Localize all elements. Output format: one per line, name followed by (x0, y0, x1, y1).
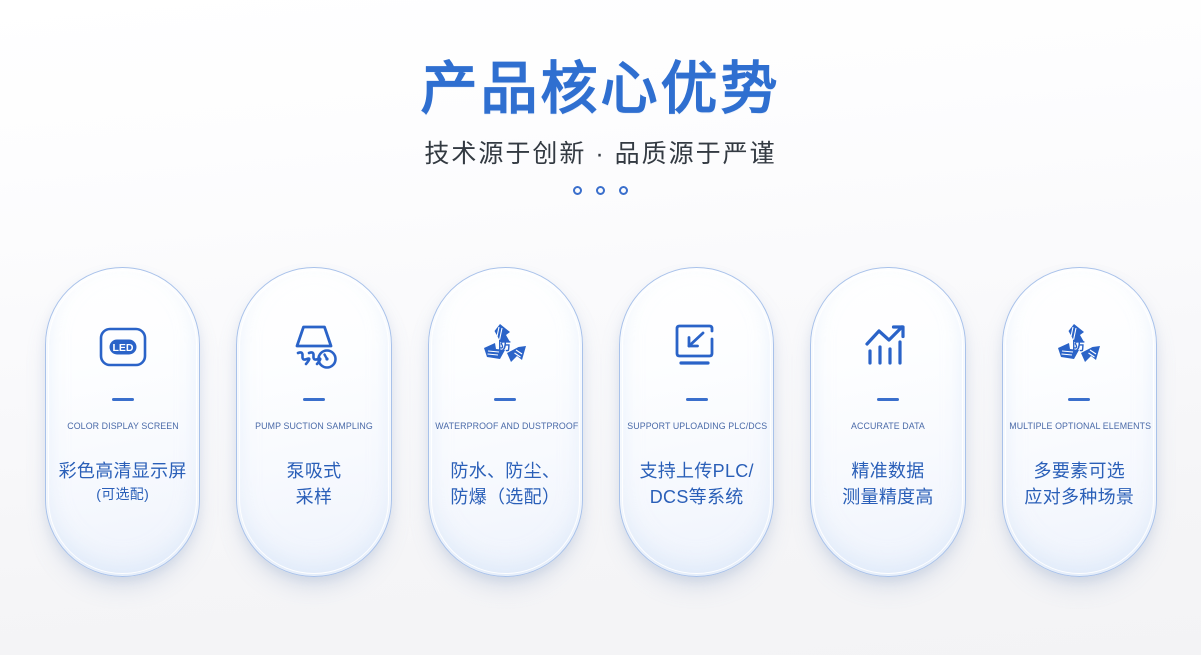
advantage-card-list: LED COLOR DISPLAY SCREEN 彩色高清显示屏 (可选配) (45, 267, 1157, 577)
card-en-label: SUPPORT UPLOADING PLC/DCS (627, 421, 767, 432)
card-en-label: PUMP SUCTION SAMPLING (244, 421, 384, 432)
card-cn-line2: 采样 (287, 484, 342, 510)
advantages-page: 产品核心优势 技术源于创新 · 品质源于严谨 LED COLOR DISPLAY… (0, 0, 1201, 655)
decorative-dots (0, 186, 1201, 195)
advantage-card[interactable]: SUPPORT UPLOADING PLC/DCS 支持上传PLC/ DCS等系… (619, 267, 774, 577)
card-en-label: WATERPROOF AND DUSTPROOF (436, 421, 576, 432)
page-subtitle: 技术源于创新 · 品质源于严谨 (0, 134, 1201, 170)
card-cn-line2: (可选配) (59, 484, 187, 504)
recycle-icon-text: 防 (499, 338, 512, 353)
card-en-label: MULTIPLE OPTIONAL ELEMENTS (1010, 421, 1150, 432)
card-divider (686, 398, 708, 401)
card-divider (112, 398, 134, 401)
card-cn-title: 泵吸式 采样 (281, 458, 348, 510)
led-display-icon: LED (96, 318, 150, 376)
bar-chart-trend-icon (860, 318, 916, 376)
card-cn-title: 彩色高清显示屏 (可选配) (53, 458, 193, 504)
card-divider (1068, 398, 1090, 401)
card-en-label: COLOR DISPLAY SCREEN (53, 421, 193, 432)
advantage-card[interactable]: ACCURATE DATA 精准数据 测量精度高 (810, 267, 965, 577)
recycle-icon-text: 防 (1073, 338, 1086, 353)
led-icon-text: LED (112, 342, 133, 354)
card-cn-line1: 支持上传PLC/ (639, 458, 753, 484)
card-cn-line1: 泵吸式 (287, 458, 342, 484)
card-cn-title: 支持上传PLC/ DCS等系统 (633, 458, 759, 510)
card-en-label: ACCURATE DATA (818, 421, 958, 432)
card-cn-line2: DCS等系统 (639, 484, 753, 510)
card-divider (494, 398, 516, 401)
card-divider (877, 398, 899, 401)
dot-icon (596, 186, 605, 195)
card-cn-line2: 防爆（选配） (450, 484, 560, 510)
advantage-card[interactable]: 防 WATERPROOF AND DUSTPROOF 防水、防尘、 防爆（选配） (428, 267, 583, 577)
card-divider (303, 398, 325, 401)
advantage-card[interactable]: PUMP SUCTION SAMPLING 泵吸式 采样 (236, 267, 391, 577)
waterproof-recycle-icon: 防 (476, 318, 534, 376)
page-header: 产品核心优势 技术源于创新 · 品质源于严谨 (0, 0, 1201, 195)
card-cn-line1: 多要素可选 (1024, 458, 1134, 484)
page-title: 产品核心优势 (0, 58, 1201, 122)
card-cn-line2: 应对多种场景 (1024, 484, 1134, 510)
card-cn-line1: 精准数据 (842, 458, 934, 484)
card-cn-line1: 彩色高清显示屏 (59, 458, 187, 484)
card-cn-title: 精准数据 测量精度高 (836, 458, 940, 510)
card-cn-line1: 防水、防尘、 (450, 458, 560, 484)
multi-element-recycle-icon: 防 (1050, 318, 1108, 376)
dot-icon (619, 186, 628, 195)
pump-suction-icon (286, 318, 342, 376)
advantage-card[interactable]: 防 MULTIPLE OPTIONAL ELEMENTS 多要素可选 应对多种场… (1002, 267, 1157, 577)
card-cn-title: 防水、防尘、 防爆（选配） (444, 458, 566, 510)
advantage-card[interactable]: LED COLOR DISPLAY SCREEN 彩色高清显示屏 (可选配) (45, 267, 200, 577)
card-cn-title: 多要素可选 应对多种场景 (1018, 458, 1140, 510)
card-cn-line2: 测量精度高 (842, 484, 934, 510)
upload-monitor-icon (668, 318, 726, 376)
dot-icon (573, 186, 582, 195)
